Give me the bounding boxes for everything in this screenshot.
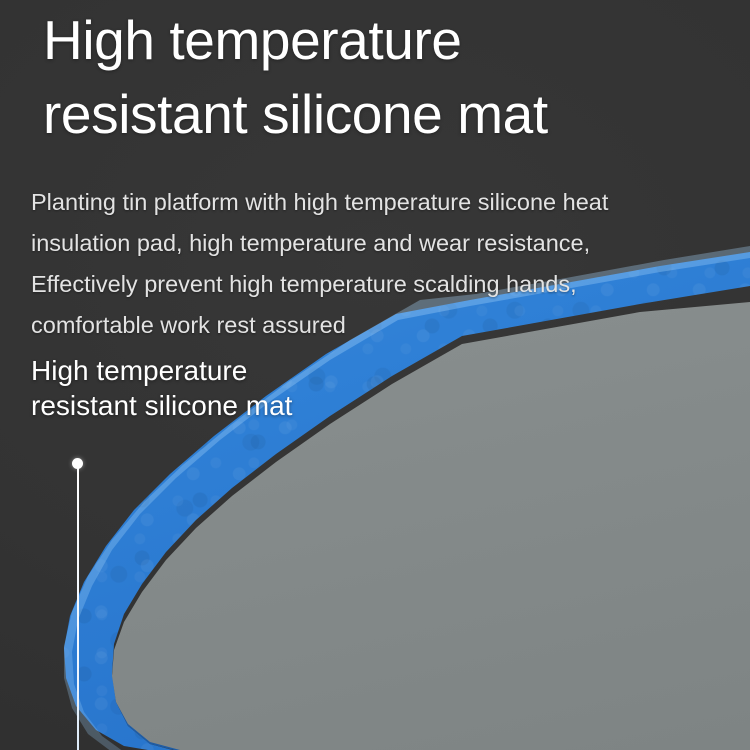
product-feature-banner: High temperature resistant silicone mat …	[0, 0, 750, 750]
page-title: High temperature resistant silicone mat	[43, 4, 733, 151]
text-content: High temperature resistant silicone mat …	[0, 0, 750, 750]
product-subheading: High temperature resistant silicone mat	[31, 353, 511, 423]
description-paragraph: Planting tin platform with high temperat…	[31, 182, 731, 346]
